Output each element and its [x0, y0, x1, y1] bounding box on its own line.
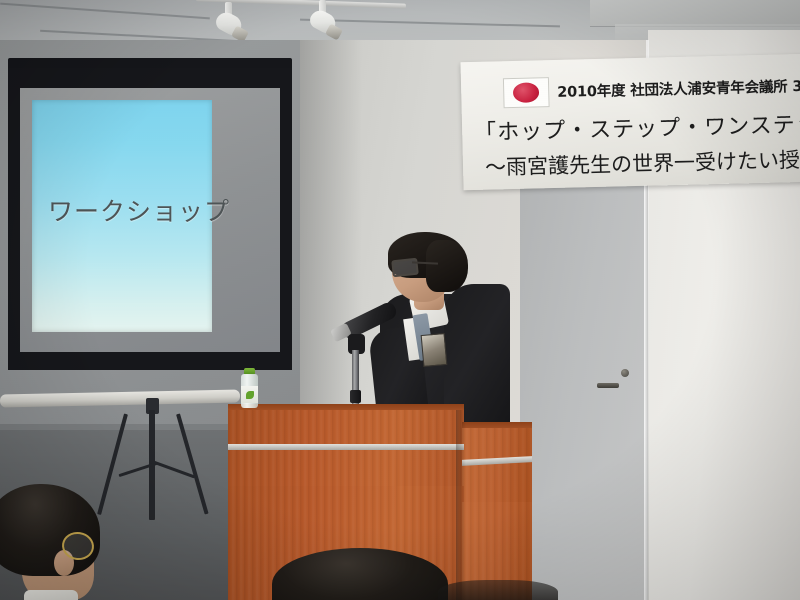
- tripod-leg-right: [176, 413, 209, 514]
- speaker-id-badge: [421, 333, 448, 367]
- audience-left-collar: [24, 590, 78, 600]
- water-bottle: [238, 368, 260, 408]
- door-edge: [644, 150, 648, 600]
- foreground-shoulder-right: [438, 580, 558, 600]
- japan-flag-icon: [503, 77, 550, 108]
- tripod-brace-right: [153, 461, 195, 479]
- ceiling-spotlight-1-body: [216, 2, 250, 44]
- ceiling-panel-right: [590, 0, 800, 27]
- door-handle[interactable]: [597, 383, 619, 388]
- podium-corner-shadow: [456, 410, 466, 600]
- flag-red-disc: [513, 82, 540, 103]
- audience-center-hair: [272, 548, 448, 600]
- audience-member-left: [0, 484, 120, 600]
- projection-screen: ワークショップ: [8, 58, 292, 378]
- event-banner: 2010年度 社団法人浦安青年会議所 3月第一例会 「ホップ・ステップ・ワンステ…: [460, 54, 800, 190]
- podium-trim-front: [228, 444, 464, 450]
- projected-slide: ワークショップ: [32, 100, 212, 332]
- podium-upper-side: [462, 428, 532, 504]
- screen-frame: ワークショップ: [8, 68, 292, 370]
- speaker-hair-back: [426, 240, 468, 292]
- audience-member-center: [272, 548, 448, 600]
- banner-line-2: 「ホップ・ステップ・ワンステップ: [474, 106, 800, 147]
- room-door[interactable]: [520, 150, 648, 600]
- banner-line-3: 〜雨宮護先生の世界一受けたい授業: [485, 143, 800, 181]
- presentation-photo: ワークショップ 2010年度 社団法人浦安青年会議所 3月第一例会 「ホップ・ス…: [0, 0, 800, 600]
- screen-surface: ワークショップ: [20, 88, 280, 352]
- door-lock[interactable]: [621, 369, 629, 377]
- bottle-leaf-graphic: [246, 391, 254, 399]
- audience-left-hair: [0, 484, 100, 576]
- slide-title-text: ワークショップ: [48, 192, 230, 228]
- banner-line-1: 2010年度 社団法人浦安青年会議所 3月第一例会: [557, 73, 800, 102]
- ceiling-spotlight-2: [310, 0, 344, 42]
